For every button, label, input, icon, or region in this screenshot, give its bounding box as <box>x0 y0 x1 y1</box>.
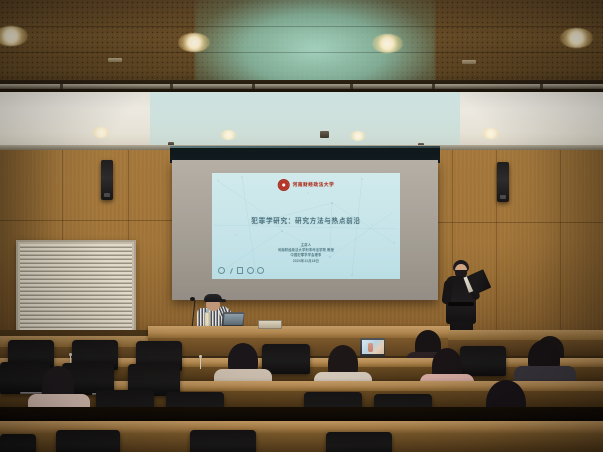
soffit-downlight <box>220 130 237 140</box>
slide-byline: 主讲人 河南财经政法大学刑事司法学院 教授 中国犯罪学学会理事 2024年11月… <box>212 243 400 264</box>
front-desk-right <box>448 330 603 340</box>
rail-tick <box>540 84 543 89</box>
slide-title: 犯罪学研究：研究方法与热点前沿 <box>212 215 400 225</box>
soffit-downlight <box>350 131 366 141</box>
front-desk-top <box>148 326 450 338</box>
slide-logo-text: 河南财经政法大学 <box>293 182 335 188</box>
slide-logo: 河南财经政法大学 <box>278 179 335 191</box>
rail-tick <box>350 84 353 89</box>
grid-icon[interactable] <box>237 267 243 273</box>
lecture-hall-photo: 河南财经政法大学 犯罪学研究：研究方法与热点前沿 主讲人 河南财经政法大学刑事司… <box>0 0 603 452</box>
speaker-cap <box>204 294 222 302</box>
rail-tick <box>170 84 173 89</box>
wall-speaker-right <box>497 162 509 202</box>
play-circle-icon[interactable] <box>218 267 225 274</box>
audience-chair <box>262 344 310 374</box>
presenter-belt <box>448 302 474 306</box>
ceiling-seam <box>0 26 603 27</box>
soffit-downlight <box>482 128 500 139</box>
soffit-cool-light <box>150 92 460 150</box>
ceiling-seam <box>0 52 603 53</box>
desk-nameplate <box>258 320 282 329</box>
more-icon[interactable] <box>257 267 264 274</box>
soffit-projector-box <box>320 131 329 138</box>
settings-icon[interactable] <box>247 267 254 274</box>
rail-tick <box>252 84 255 89</box>
ceiling-vent <box>108 58 122 62</box>
wall-seam <box>128 150 129 240</box>
soffit-band <box>0 92 603 150</box>
ceiling-downlight <box>372 34 403 53</box>
rail-tick <box>432 84 435 89</box>
soffit-downlight <box>92 127 110 138</box>
water-bottle <box>205 312 210 327</box>
ceiling-vent <box>462 60 476 64</box>
rail-tick <box>60 84 63 89</box>
pen-icon[interactable] <box>229 268 234 273</box>
ceiling-light-track <box>0 84 603 89</box>
slide-toolbar[interactable] <box>218 267 264 274</box>
university-seal-icon <box>278 179 290 191</box>
projected-slide: 河南财经政法大学 犯罪学研究：研究方法与热点前沿 主讲人 河南财经政法大学刑事司… <box>212 173 400 279</box>
wall-speaker-left <box>101 160 113 200</box>
ceiling-downlight <box>560 28 593 48</box>
ceiling-downlight <box>178 33 210 52</box>
wall-shadow-right <box>533 150 603 360</box>
audience-chair <box>326 432 392 452</box>
byline-line-4: 2024年11月18日 <box>212 259 400 264</box>
audience-chair <box>0 434 36 452</box>
audience-chair <box>190 430 256 452</box>
ceiling <box>0 0 603 92</box>
audience-microphone <box>200 357 201 369</box>
audience-laptop <box>360 338 385 357</box>
audience-chair <box>56 430 120 452</box>
audience-chair <box>460 346 506 376</box>
